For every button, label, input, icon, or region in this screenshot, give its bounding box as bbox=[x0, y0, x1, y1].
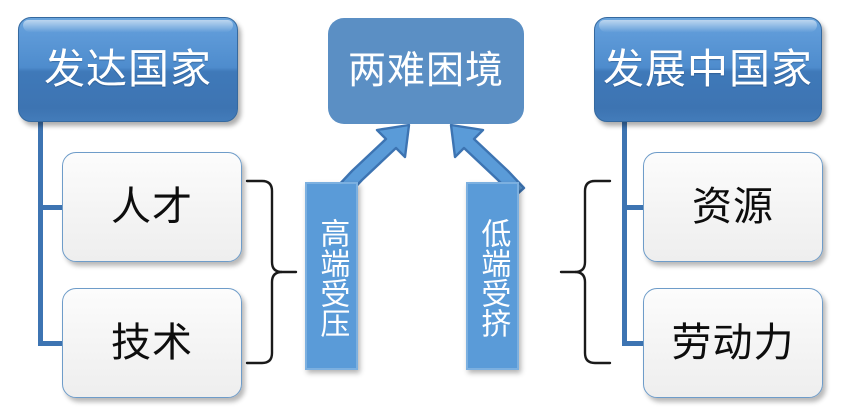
left-leaf-label-2: 技术 bbox=[111, 323, 193, 363]
connector-left-trunk bbox=[38, 120, 43, 346]
left-leaf-label-1: 人才 bbox=[111, 187, 193, 227]
right-leaf-label-1: 资源 bbox=[692, 187, 774, 227]
connector-right-trunk bbox=[622, 120, 627, 346]
right-vertical-column-label: 低端受挤 bbox=[477, 218, 509, 338]
right-leaf-box-2[interactable]: 劳动力 bbox=[643, 288, 823, 398]
right-brace-icon bbox=[561, 181, 610, 363]
right-leaf-label-2: 劳动力 bbox=[672, 323, 795, 363]
right-header-box[interactable]: 发展中国家 bbox=[594, 17, 822, 122]
center-box-label: 两难困境 bbox=[348, 52, 504, 90]
right-header-label: 发展中国家 bbox=[603, 49, 813, 90]
diagram-canvas: 发达国家 两难困境 发展中国家 人才 技术 资源 劳动力 高端受压 低端受挤 bbox=[0, 0, 841, 419]
left-vertical-column[interactable]: 高端受压 bbox=[305, 182, 358, 370]
left-leaf-box-1[interactable]: 人才 bbox=[62, 152, 242, 262]
left-brace-icon bbox=[247, 181, 296, 363]
center-box[interactable]: 两难困境 bbox=[328, 18, 524, 124]
left-header-label: 发达国家 bbox=[44, 49, 212, 90]
right-leaf-box-1[interactable]: 资源 bbox=[643, 152, 823, 262]
left-header-box[interactable]: 发达国家 bbox=[18, 17, 238, 122]
right-vertical-column[interactable]: 低端受挤 bbox=[466, 182, 519, 370]
left-leaf-box-2[interactable]: 技术 bbox=[62, 288, 242, 398]
left-vertical-column-label: 高端受压 bbox=[316, 218, 348, 338]
